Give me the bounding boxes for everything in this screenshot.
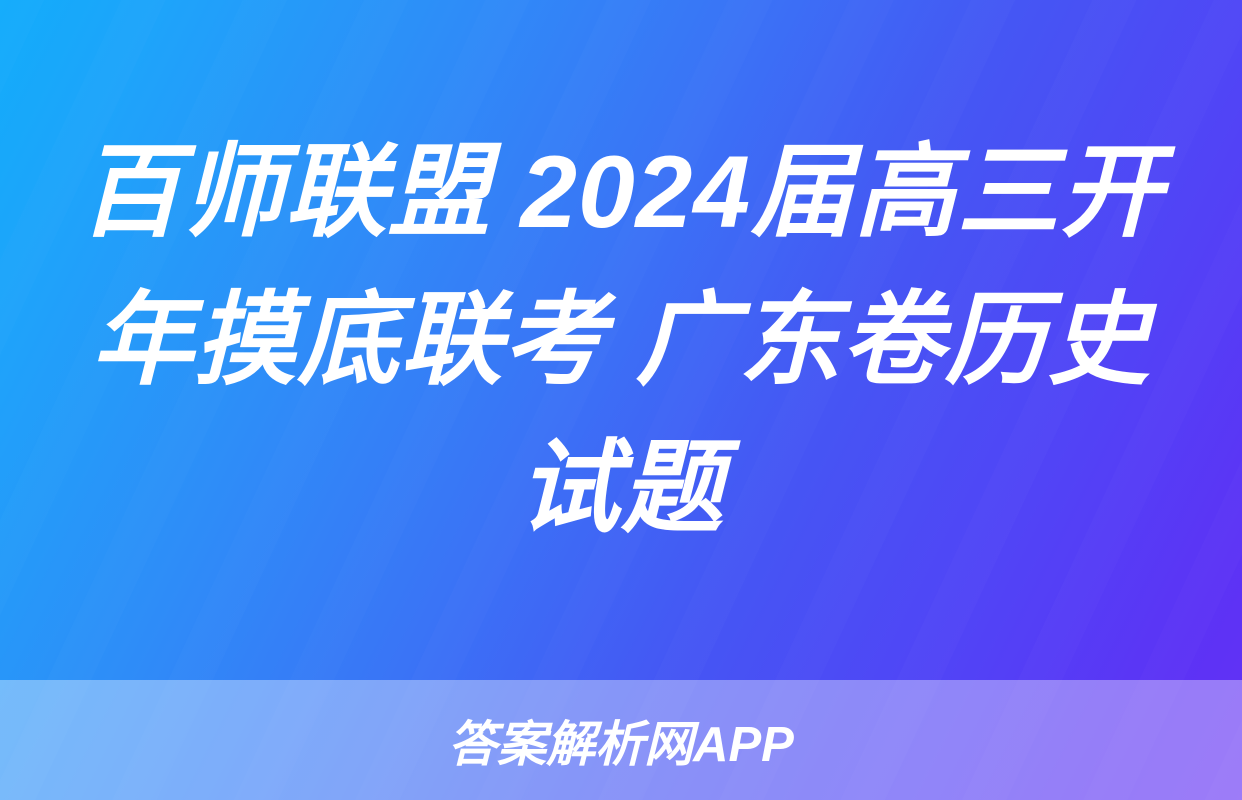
- title-line-2: 年摸底联考 广东卷历史: [91, 266, 1150, 414]
- footer-watermark-band: 答案解析网APP: [0, 680, 1242, 800]
- poster-container: 百师联盟 2024届高三开 年摸底联考 广东卷历史 试题 答案解析网APP: [0, 0, 1242, 800]
- app-watermark-label: 答案解析网APP: [448, 705, 794, 776]
- title-line-3: 试题: [518, 414, 724, 562]
- title-line-1: 百师联盟 2024届高三开: [79, 118, 1163, 266]
- title-block: 百师联盟 2024届高三开 年摸底联考 广东卷历史 试题: [0, 0, 1242, 680]
